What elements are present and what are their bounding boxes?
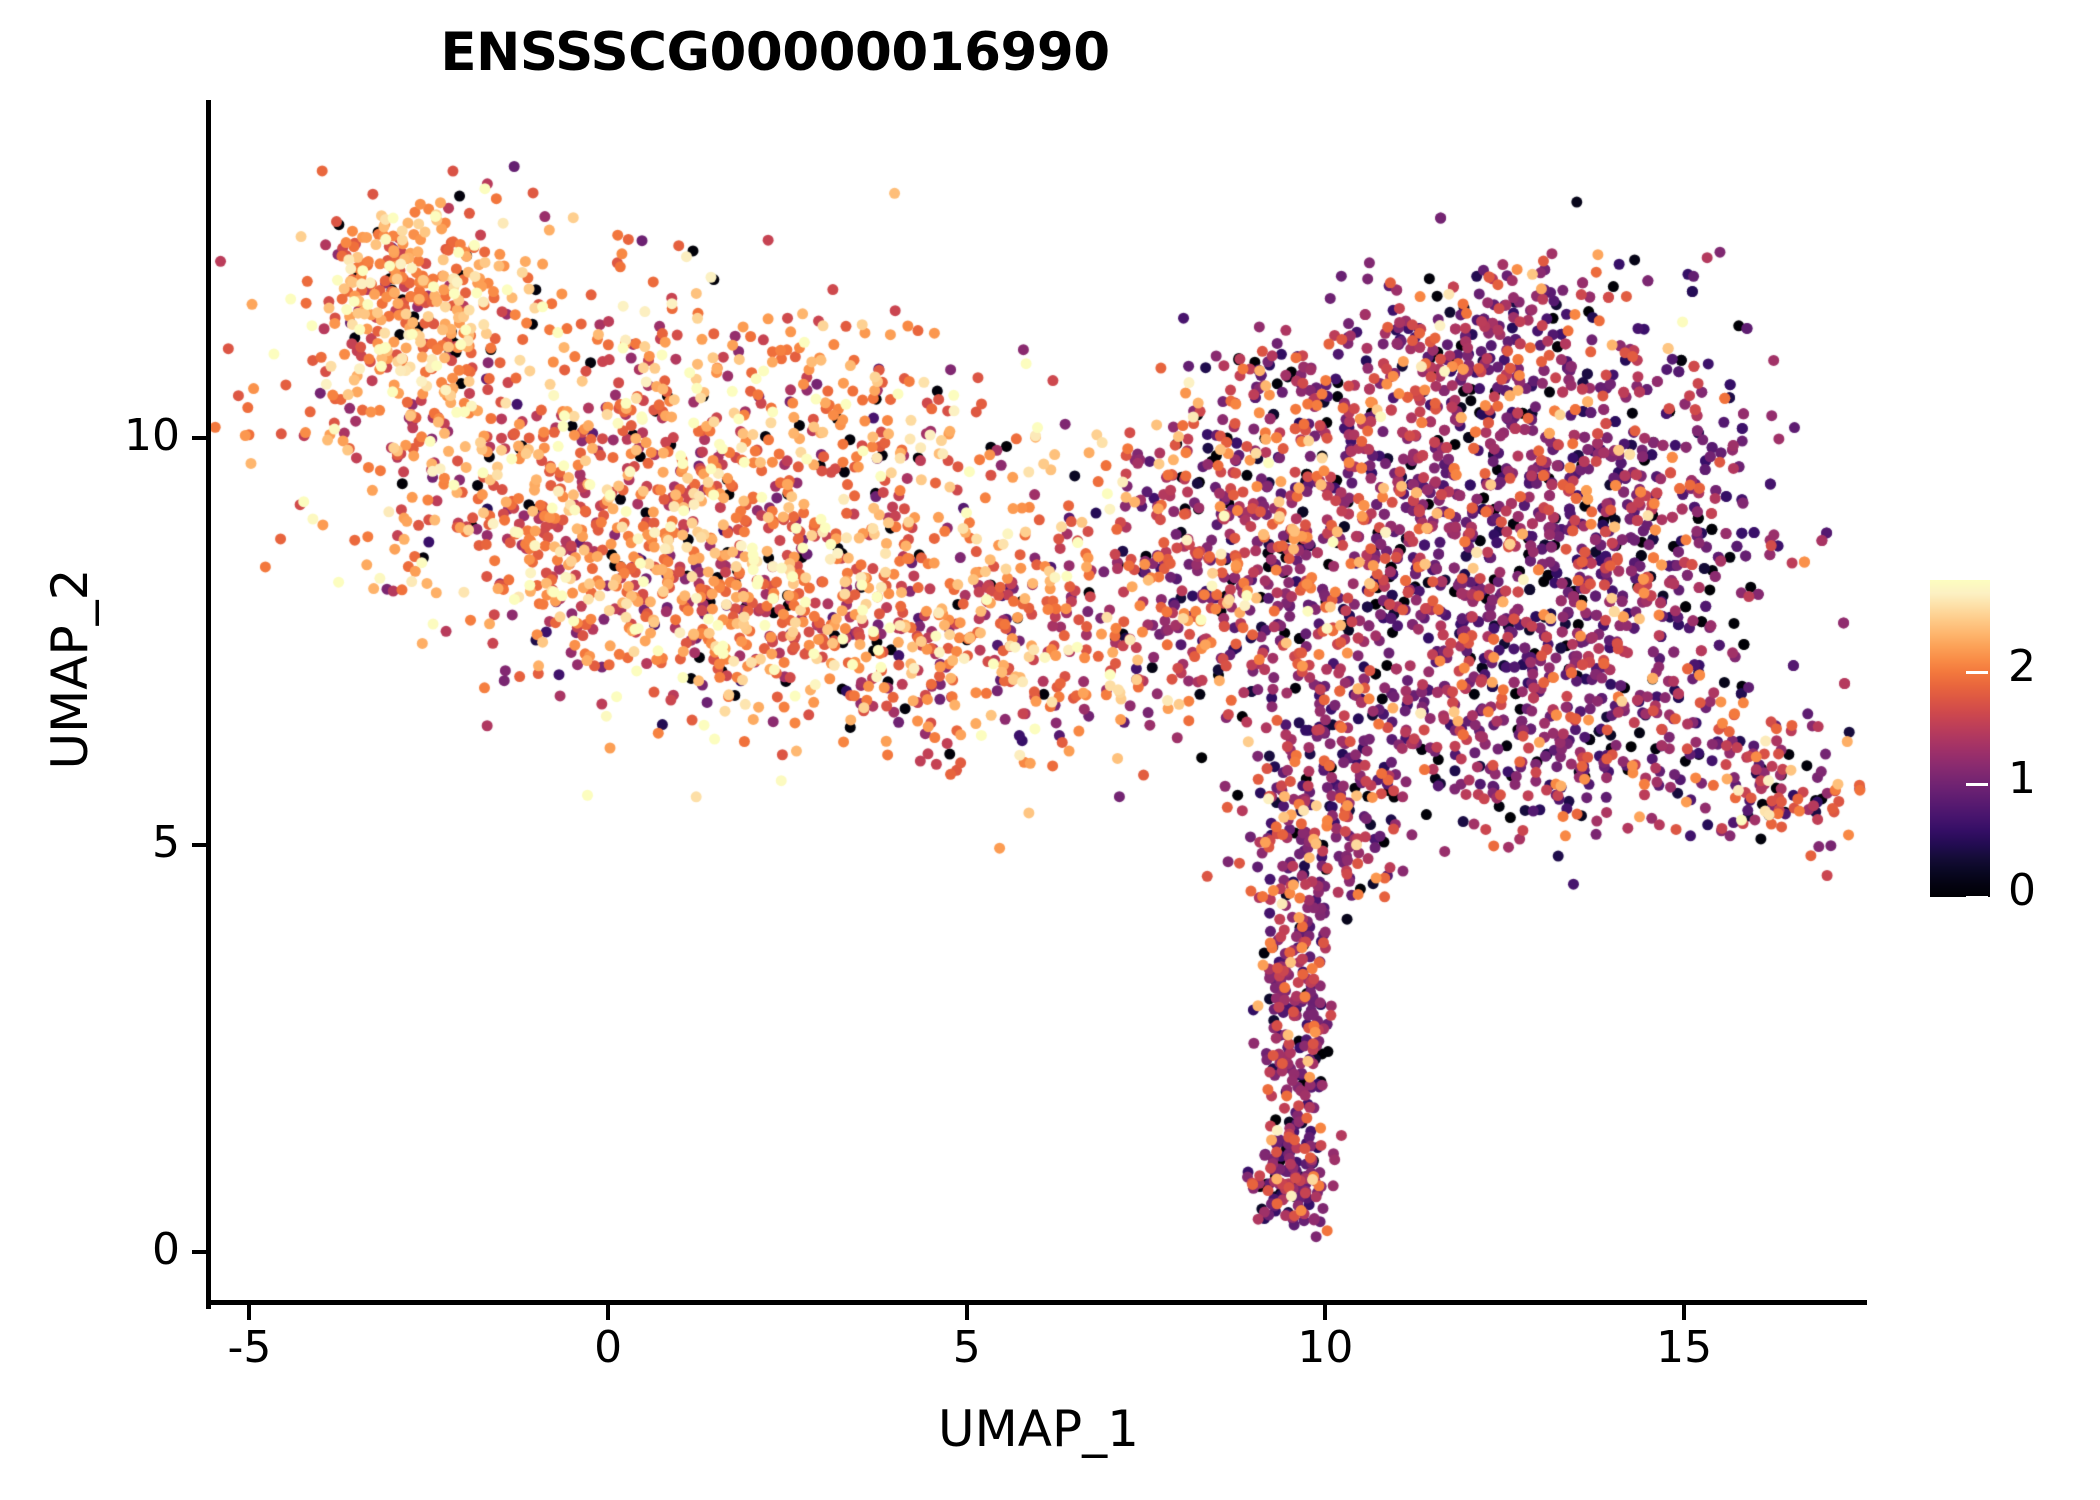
x-tick-mark bbox=[965, 1305, 969, 1320]
y-tick-mark bbox=[192, 436, 207, 440]
figure-root: ENSSSCG00000016990 -5051015 0510 UMAP_1 … bbox=[0, 0, 2100, 1500]
y-axis-label: UMAP_2 bbox=[41, 369, 99, 969]
colorbar-tick-label: 1 bbox=[2008, 757, 2036, 801]
x-tick-mark bbox=[1323, 1305, 1327, 1320]
y-tick-mark bbox=[192, 843, 207, 847]
colorbar-tick-label: 0 bbox=[2008, 869, 2036, 913]
x-tick-label: 0 bbox=[528, 1322, 688, 1373]
plot-area bbox=[210, 100, 1867, 1303]
colorbar-gradient bbox=[1930, 580, 1990, 897]
colorbar-tick-mark bbox=[1966, 671, 1988, 674]
x-axis-label: UMAP_1 bbox=[210, 1400, 1867, 1458]
y-tick-mark bbox=[192, 1250, 207, 1254]
x-tick-label: -5 bbox=[169, 1322, 329, 1373]
x-tick-mark bbox=[1682, 1305, 1686, 1320]
colorbar-tick-mark bbox=[1966, 896, 1988, 899]
x-tick-label: 15 bbox=[1604, 1322, 1764, 1373]
x-axis-spine bbox=[206, 1300, 1867, 1305]
x-tick-label: 5 bbox=[887, 1322, 1047, 1373]
y-tick-label: 0 bbox=[0, 1224, 180, 1275]
colorbar-tick-mark bbox=[1966, 783, 1988, 786]
x-tick-mark bbox=[247, 1305, 251, 1320]
page-title: ENSSSCG00000016990 bbox=[0, 22, 1550, 83]
y-axis-spine bbox=[206, 100, 211, 1309]
colorbar: 210 bbox=[1930, 580, 2090, 900]
colorbar-tick-label: 2 bbox=[2008, 645, 2036, 689]
x-tick-label: 10 bbox=[1245, 1322, 1405, 1373]
x-tick-mark bbox=[606, 1305, 610, 1320]
scatter-plot-canvas bbox=[210, 100, 1867, 1303]
